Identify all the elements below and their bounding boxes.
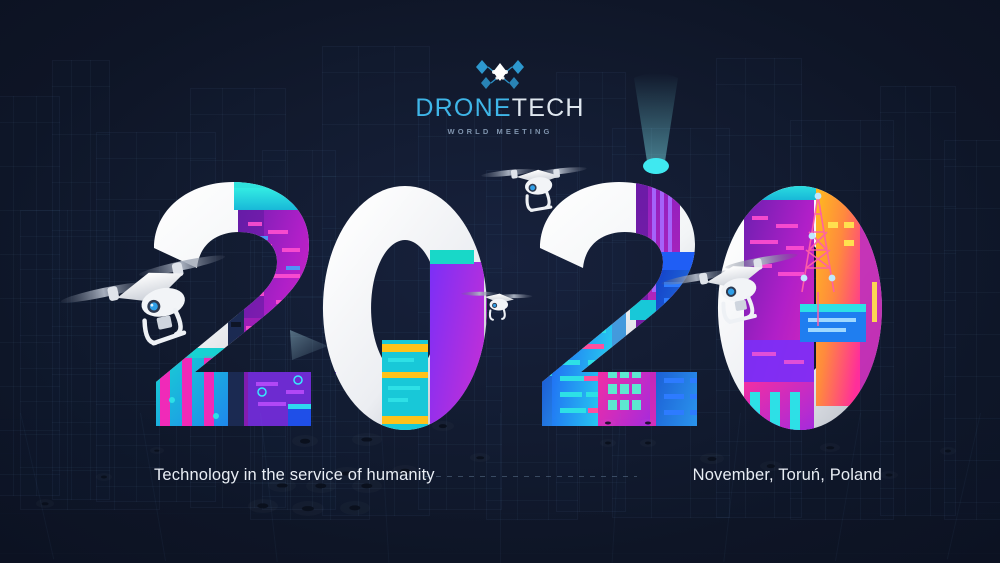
landing-pad-marker (700, 453, 724, 464)
landing-pad-marker (600, 419, 616, 427)
ground-line-vertical (20, 413, 54, 559)
landing-pad-marker (150, 447, 164, 454)
landing-pad-marker (470, 453, 490, 462)
landing-pad-marker (292, 501, 324, 516)
landing-pad-marker (640, 419, 656, 427)
brand-logo[interactable]: DRONETECH WORLD MEETING (0, 54, 1000, 136)
landing-pad-marker (600, 439, 616, 447)
landing-pad-marker (640, 439, 656, 447)
landing-pad-marker (432, 421, 454, 431)
landing-pad-marker (340, 501, 370, 515)
ground-line-vertical (140, 413, 166, 561)
drone-propellers-icon (464, 54, 536, 90)
landing-pad-marker (352, 433, 382, 446)
poster-canvas: DRONETECH WORLD MEETING Technology in th… (0, 0, 1000, 563)
ground-line-vertical (947, 413, 981, 559)
tagline: Technology in the service of humanity (154, 466, 435, 485)
dashed-divider (425, 476, 637, 477)
ground-line-vertical (723, 413, 741, 562)
landing-pad-marker (36, 499, 54, 508)
landing-pad-marker (940, 447, 956, 455)
ground-grid (0, 413, 1000, 563)
landing-pad-marker (96, 473, 112, 481)
logo-subtitle: WORLD MEETING (0, 127, 1000, 136)
landing-pad-marker (248, 499, 278, 513)
ground-line-vertical (612, 413, 621, 563)
ground-line-vertical (500, 413, 501, 563)
logo-wordmark: DRONETECH (0, 96, 1000, 121)
landing-pad-marker (820, 443, 840, 452)
landing-pad-marker (880, 471, 898, 479)
event-location: November, Toruń, Poland (693, 466, 882, 485)
ground-line-vertical (835, 413, 861, 561)
landing-pad-marker (292, 435, 318, 447)
logo-word-drone: DRONE (415, 94, 511, 122)
logo-word-tech: TECH (512, 94, 585, 122)
